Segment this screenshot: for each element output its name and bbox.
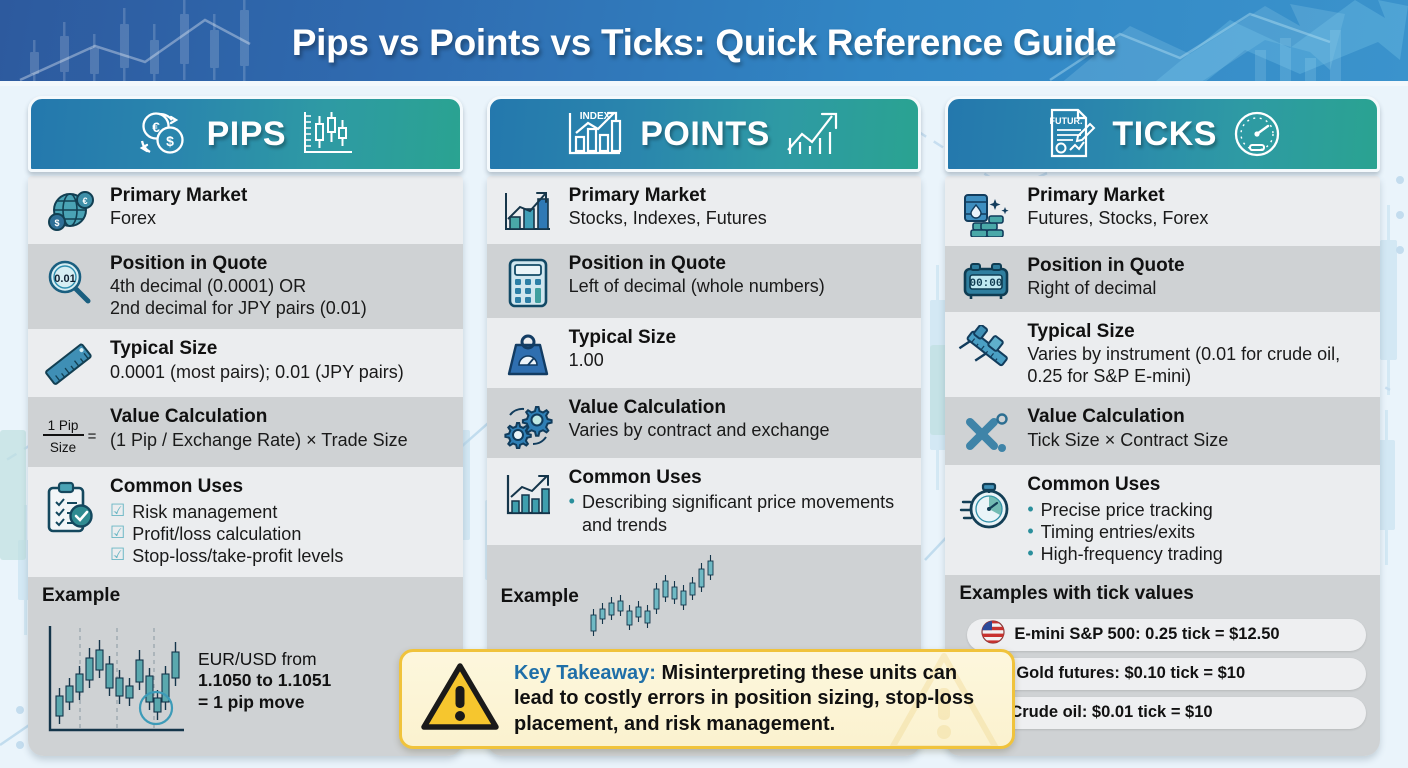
table-row: Primary Market Futures, Stocks, Forex: [945, 176, 1380, 246]
globe-currency-icon: € $: [38, 185, 100, 235]
key-takeaway-text: Key Takeaway: Misinterpreting these unit…: [514, 661, 994, 737]
key-takeaway-label: Key Takeaway:: [514, 662, 656, 684]
row-label: Common Uses: [569, 467, 910, 489]
pip-fraction-icon: 1 Pip Size =: [38, 406, 100, 458]
table-row: Typical Size Varies by instrument (0.01 …: [945, 312, 1380, 397]
card-header-pips: € $ PIPS: [28, 96, 463, 172]
bullet-list: ☑Risk management ☑Profit/loss calculatio…: [110, 501, 451, 568]
table-row: 00:00 Position in Quote Right of decimal: [945, 246, 1380, 312]
svg-text:INDEX: INDEX: [580, 111, 611, 122]
row-value: 1.00: [569, 350, 910, 372]
table-row: Common Uses •Describing significant pric…: [487, 458, 922, 545]
row-value: 4th decimal (0.0001) OR 2nd decimal for …: [110, 276, 451, 320]
list-item: ☑Risk management: [110, 501, 451, 523]
bullet-dot-icon: •: [1027, 521, 1033, 543]
example-title: Example: [501, 586, 579, 608]
row-value: Forex: [110, 208, 451, 230]
row-label: Position in Quote: [569, 253, 910, 275]
row-label: Value Calculation: [110, 406, 451, 428]
list-item: ☑Stop-loss/take-profit levels: [110, 545, 451, 567]
row-label: Typical Size: [569, 327, 910, 349]
list-item: •High-frequency trading: [1027, 543, 1368, 565]
list-item: •Timing entries/exits: [1027, 521, 1368, 543]
row-value: Varies by instrument (0.01 for crude oil…: [1027, 344, 1368, 388]
pill-text: Gold futures: $0.10 tick = $10: [1016, 664, 1245, 683]
table-row: Value Calculation Varies by contract and…: [487, 388, 922, 458]
row-value: Varies by contract and exchange: [569, 420, 910, 442]
oil-barrel-gold-icon: [955, 185, 1017, 237]
candlestick-chart-with-circle-highlight: [42, 622, 192, 740]
row-label: Value Calculation: [1027, 406, 1368, 428]
card-title-points: POINTS: [640, 115, 770, 154]
table-row: Common Uses ☑Risk management ☑Profit/los…: [28, 467, 463, 576]
row-value: Stocks, Indexes, Futures: [569, 208, 910, 230]
table-row: Value Calculation Tick Size × Contract S…: [945, 397, 1380, 465]
gears-icon: [497, 397, 559, 449]
clipboard-check-icon: [38, 476, 100, 536]
ruler-icon: [38, 338, 100, 388]
stopwatch-icon: [955, 474, 1017, 532]
svg-text:Size: Size: [50, 440, 76, 455]
examples-title: Examples with tick values: [959, 583, 1193, 605]
svg-text:$: $: [166, 133, 174, 149]
table-row: Typical Size 1.00: [487, 318, 922, 388]
row-value: Futures, Stocks, Forex: [1027, 208, 1368, 230]
magnifier-decimal-icon: 0.01: [38, 253, 100, 305]
bullet-dot-icon: •: [1027, 499, 1033, 521]
row-label: Primary Market: [110, 185, 451, 207]
banner-underline: [0, 81, 1408, 86]
row-label: Value Calculation: [569, 397, 910, 419]
pill-text: Crude oil: $0.01 tick = $10: [1010, 703, 1212, 722]
list-item[interactable]: Gold futures: $0.10 tick = $10: [967, 658, 1366, 690]
uptrend-arrow-chart-icon: [784, 108, 844, 160]
svg-text:1 Pip: 1 Pip: [48, 418, 79, 433]
index-bar-chart-icon: INDEX: [564, 107, 626, 161]
table-row: Position in Quote Left of decimal (whole…: [487, 244, 922, 318]
svg-text:=: =: [88, 428, 97, 445]
candlestick-chart-icon: [300, 108, 356, 160]
card-header-points: INDEX POINTS: [487, 96, 922, 172]
card-header-ticks: FUTUR. TICKS: [945, 96, 1380, 172]
warning-triangle-icon: [420, 661, 500, 738]
row-label: Typical Size: [1027, 321, 1368, 343]
key-takeaway-callout: Key Takeaway: Misinterpreting these unit…: [399, 649, 1015, 749]
card-title-pips: PIPS: [207, 115, 286, 154]
table-row: 0.01 Position in Quote 4th decimal (0.00…: [28, 244, 463, 329]
card-pips: € $ PIPS: [28, 96, 463, 756]
table-row: 1 Pip Size = Value Calculation (1 Pip / …: [28, 397, 463, 467]
row-label: Position in Quote: [110, 253, 451, 275]
svg-text:FUTUR.: FUTUR.: [1050, 116, 1083, 126]
list-item[interactable]: E-mini S&P 500: 0.25 tick = $12.50: [967, 619, 1366, 651]
speedometer-icon: [1231, 108, 1283, 160]
calculator-icon: [497, 253, 559, 309]
digital-clock-icon: 00:00: [955, 255, 1017, 303]
card-body-pips: € $ Primary Market Forex 0.01: [28, 176, 463, 756]
list-item[interactable]: Crude oil: $0.01 tick = $10: [967, 697, 1366, 729]
check-circle-icon: ☑: [110, 501, 125, 521]
table-row: Typical Size 0.0001 (most pairs); 0.01 (…: [28, 329, 463, 397]
row-value: Tick Size × Contract Size: [1027, 430, 1368, 452]
table-row: Common Uses •Precise price tracking •Tim…: [945, 465, 1380, 574]
rising-candlestick-chart-with-arrow: [587, 553, 717, 641]
svg-text:€: €: [82, 196, 87, 206]
multiply-operator-icon: [955, 406, 1017, 456]
list-item: ☑Profit/loss calculation: [110, 523, 451, 545]
bullet-list: •Describing significant price movements …: [569, 491, 910, 536]
row-label: Position in Quote: [1027, 255, 1368, 277]
row-label: Typical Size: [110, 338, 451, 360]
bar-chart-growth-icon: [497, 185, 559, 235]
example-section-pips: Example: [28, 577, 463, 756]
row-label: Common Uses: [110, 476, 451, 498]
example-title: Example: [42, 585, 120, 607]
svg-text:0.01: 0.01: [54, 273, 75, 285]
row-label: Primary Market: [1027, 185, 1368, 207]
weight-icon: [497, 327, 559, 379]
row-value: Right of decimal: [1027, 278, 1368, 300]
svg-text:00:00: 00:00: [970, 278, 1003, 290]
page-title: Pips vs Points vs Ticks: Quick Reference…: [0, 0, 1408, 86]
row-value: (1 Pip / Exchange Rate) × Trade Size: [110, 430, 451, 452]
table-row: € $ Primary Market Forex: [28, 176, 463, 244]
chart-trend-icon: [497, 467, 559, 519]
list-item: •Describing significant price movements …: [569, 491, 910, 536]
caliper-icon: [955, 321, 1017, 375]
svg-text:$: $: [54, 218, 59, 228]
row-label: Primary Market: [569, 185, 910, 207]
us-flag-icon: [981, 620, 1005, 649]
futures-contract-document-icon: FUTUR.: [1042, 106, 1098, 162]
list-item: •Precise price tracking: [1027, 499, 1368, 521]
example-note: EUR/USD from 1.1050 to 1.1051 = 1 pip mo…: [198, 649, 331, 715]
check-circle-icon: ☑: [110, 545, 125, 565]
bullet-dot-icon: •: [1027, 543, 1033, 565]
bullet-dot-icon: •: [569, 491, 575, 513]
pill-text: E-mini S&P 500: 0.25 tick = $12.50: [1014, 625, 1279, 644]
card-title-ticks: TICKS: [1112, 115, 1217, 154]
page-banner: Pips vs Points vs Ticks: Quick Reference…: [0, 0, 1408, 86]
bullet-list: •Precise price tracking •Timing entries/…: [1027, 499, 1368, 566]
check-circle-icon: ☑: [110, 523, 125, 543]
table-row: Primary Market Stocks, Indexes, Futures: [487, 176, 922, 244]
row-label: Common Uses: [1027, 474, 1368, 496]
row-value: Left of decimal (whole numbers): [569, 276, 910, 298]
currency-exchange-coins-icon: € $: [135, 108, 193, 160]
row-value: 0.0001 (most pairs); 0.01 (JPY pairs): [110, 362, 451, 384]
svg-text:€: €: [152, 119, 160, 135]
